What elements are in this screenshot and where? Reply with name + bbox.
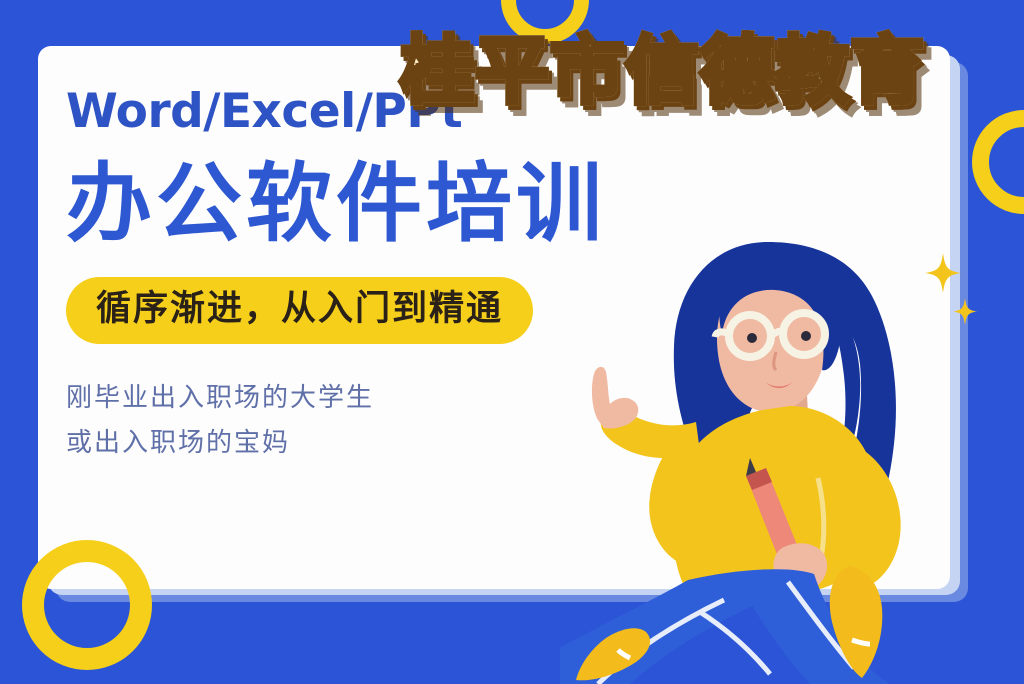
tagline-badge: 循序渐进，从入门到精通 [66,277,533,344]
audience-description: 刚毕业出入职场的大学生 或出入职场的宝妈 [66,376,746,467]
sparkle-icon [925,253,961,293]
shoe-left [576,628,650,680]
watermark-text: 桂平市信德教育 [400,28,1024,114]
watermark: 桂平市信德教育 [400,28,1024,114]
pants-highlight-2 [700,612,770,674]
sparkle-icon [953,298,977,325]
poster-canvas: Word/Excel/PPt 办公软件培训 循序渐进，从入门到精通 刚毕业出入职… [0,0,1024,684]
yellow-ring-bottom-left [22,540,152,670]
audience-line-2: 或出入职场的宝妈 [66,421,746,467]
audience-line-1: 刚毕业出入职场的大学生 [66,376,746,422]
yellow-ring-right [972,110,1024,214]
pants-highlight-1 [598,600,724,684]
page-title: 办公软件培训 [66,159,746,249]
shoe-left-lace [618,650,630,658]
shoe-right-lace [852,640,870,644]
text-block: Word/Excel/PPt 办公软件培训 循序渐进，从入门到精通 刚毕业出入职… [66,88,746,467]
